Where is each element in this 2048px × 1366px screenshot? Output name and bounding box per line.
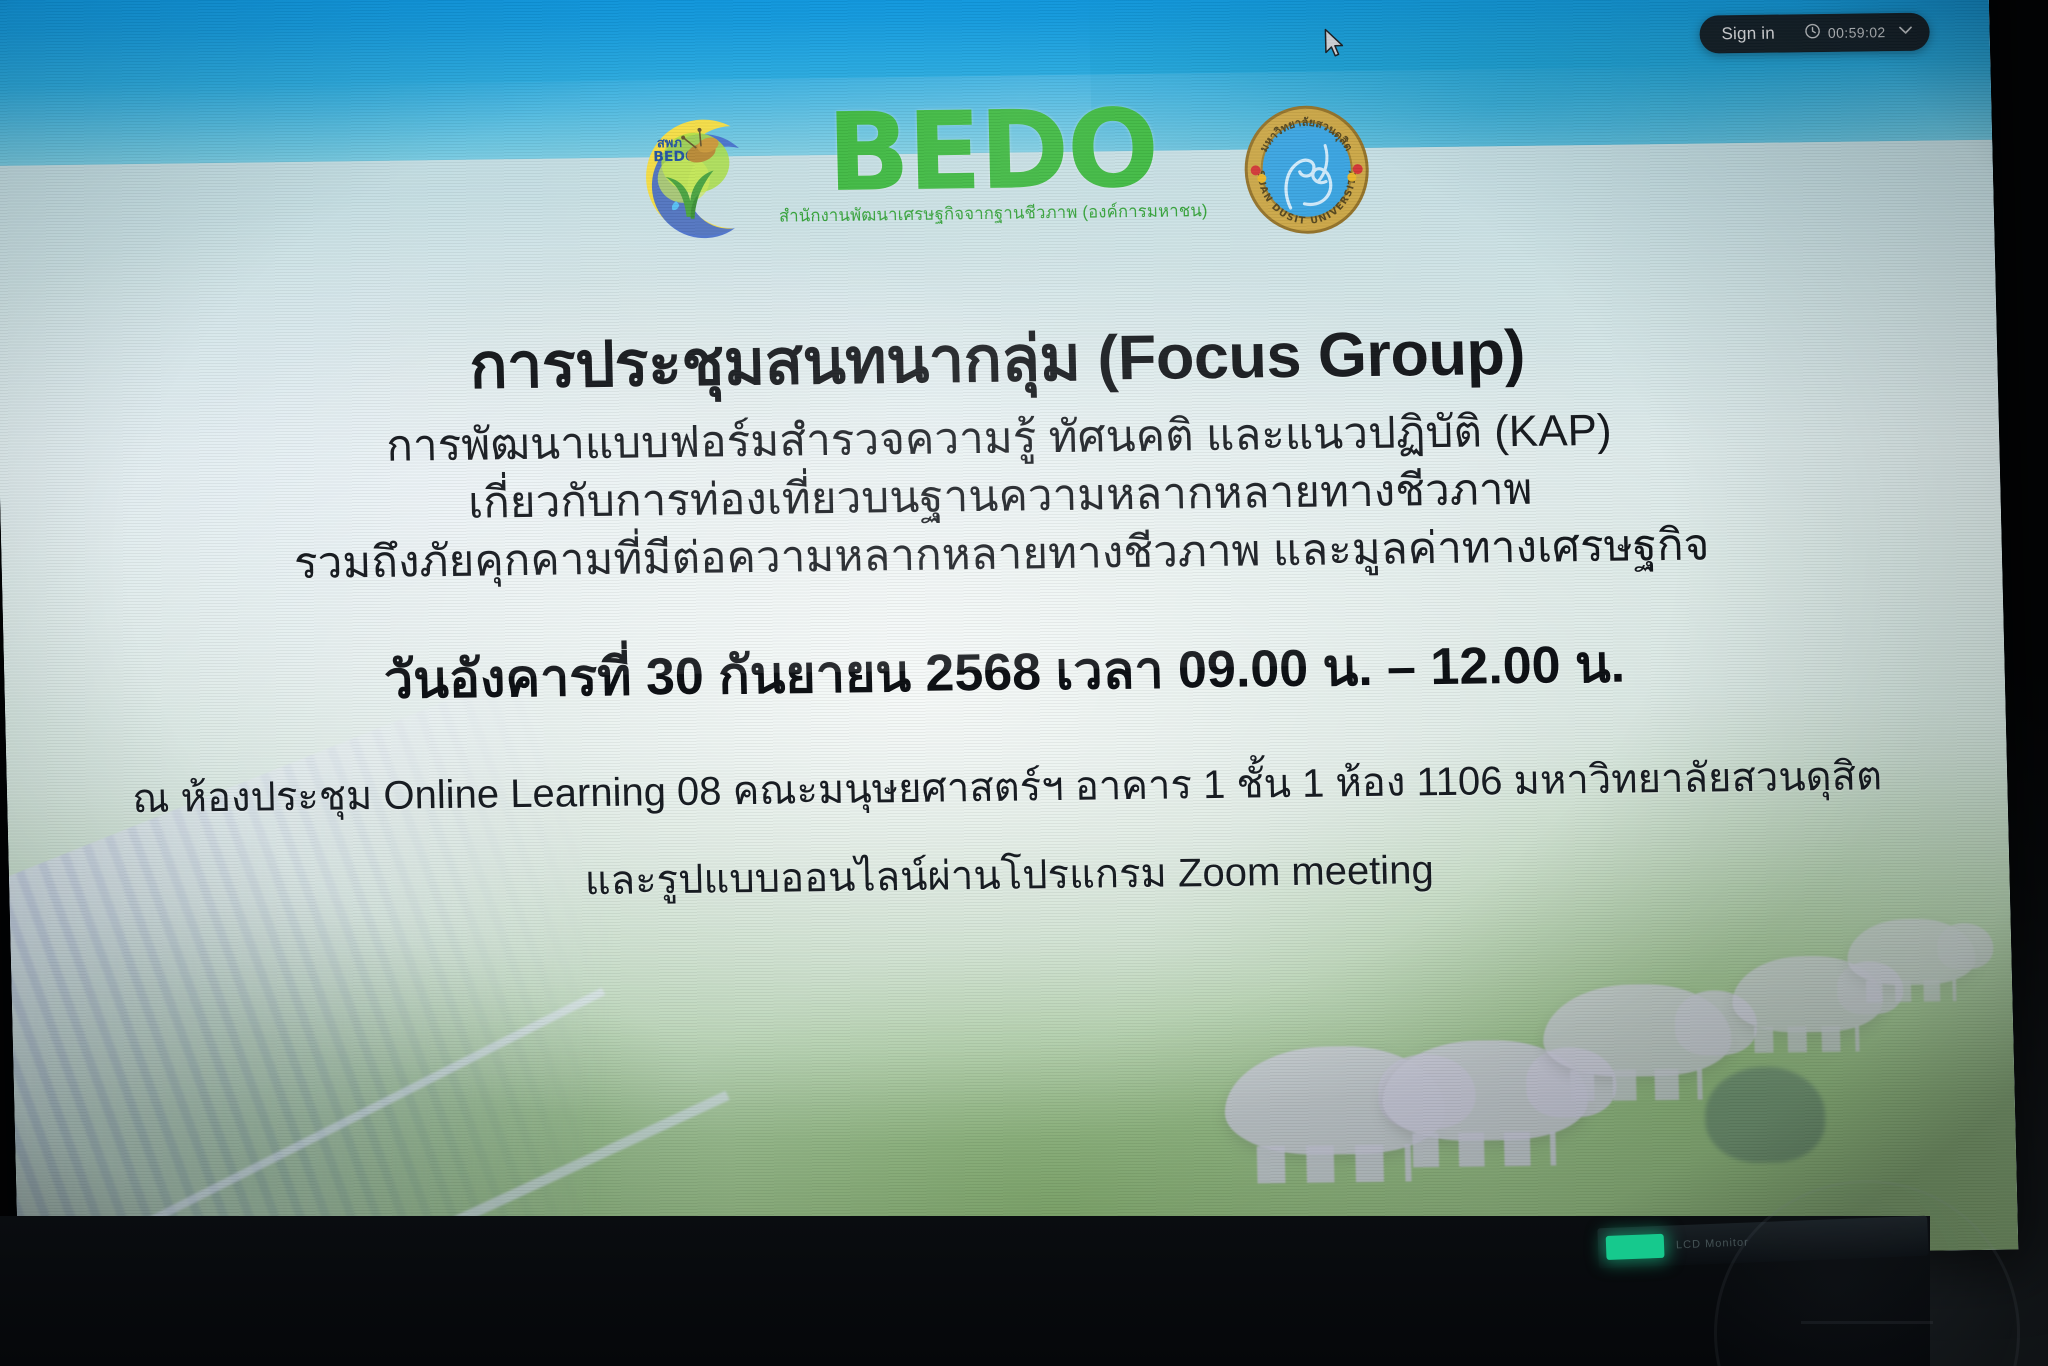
logo-row: สพภ BEDO [0,88,1994,260]
meeting-timer[interactable]: 00:59:02 [1805,22,1886,44]
bedo-subtitle: สำนักงานพัฒนาเศรษฐกิจจากฐานชีวภาพ (องค์ก… [779,197,1208,230]
clock-icon [1805,23,1821,44]
zoom-topbar: Sign in 00:59:02 [1699,13,1930,54]
chevron-down-icon[interactable] [1897,23,1913,41]
bedo-emblem-icon: สพภ BEDO [612,104,767,252]
sign-in-button[interactable]: Sign in [1721,23,1805,44]
power-led-indicator [1606,1234,1665,1260]
bedo-wordmark-block: BEDO สำนักงานพัฒนาเศรษฐกิจจากฐานชีวภาพ (… [772,98,1212,229]
monitor-screen: Sign in 00:59:02 [0,0,2018,1276]
bedo-logo: สพภ BEDO [612,98,1213,252]
bedo-wordmark: BEDO [826,99,1158,206]
slide-text-block: การประชุมสนทนากลุ่ม (Focus Group) การพัฒ… [0,312,2010,920]
slide-date-time: วันอังคารที่ 30 กันยายน 2568 เวลา 09.00 … [3,616,2005,725]
monitor-bezel-label: LCD Monitor [1676,1237,1749,1252]
photo-of-monitor: Sign in 00:59:02 [0,0,2048,1366]
suan-dusit-university-seal: มหาวิทยาลัยสวนดุสิต SUAN DUSIT UNIVERSIT… [1240,103,1373,237]
timer-value: 00:59:02 [1828,24,1886,41]
slide-venue: ณ ห้องประชุม Online Learning 08 คณะมนุษย… [6,741,2007,831]
presentation-slide: Sign in 00:59:02 [0,0,2018,1276]
